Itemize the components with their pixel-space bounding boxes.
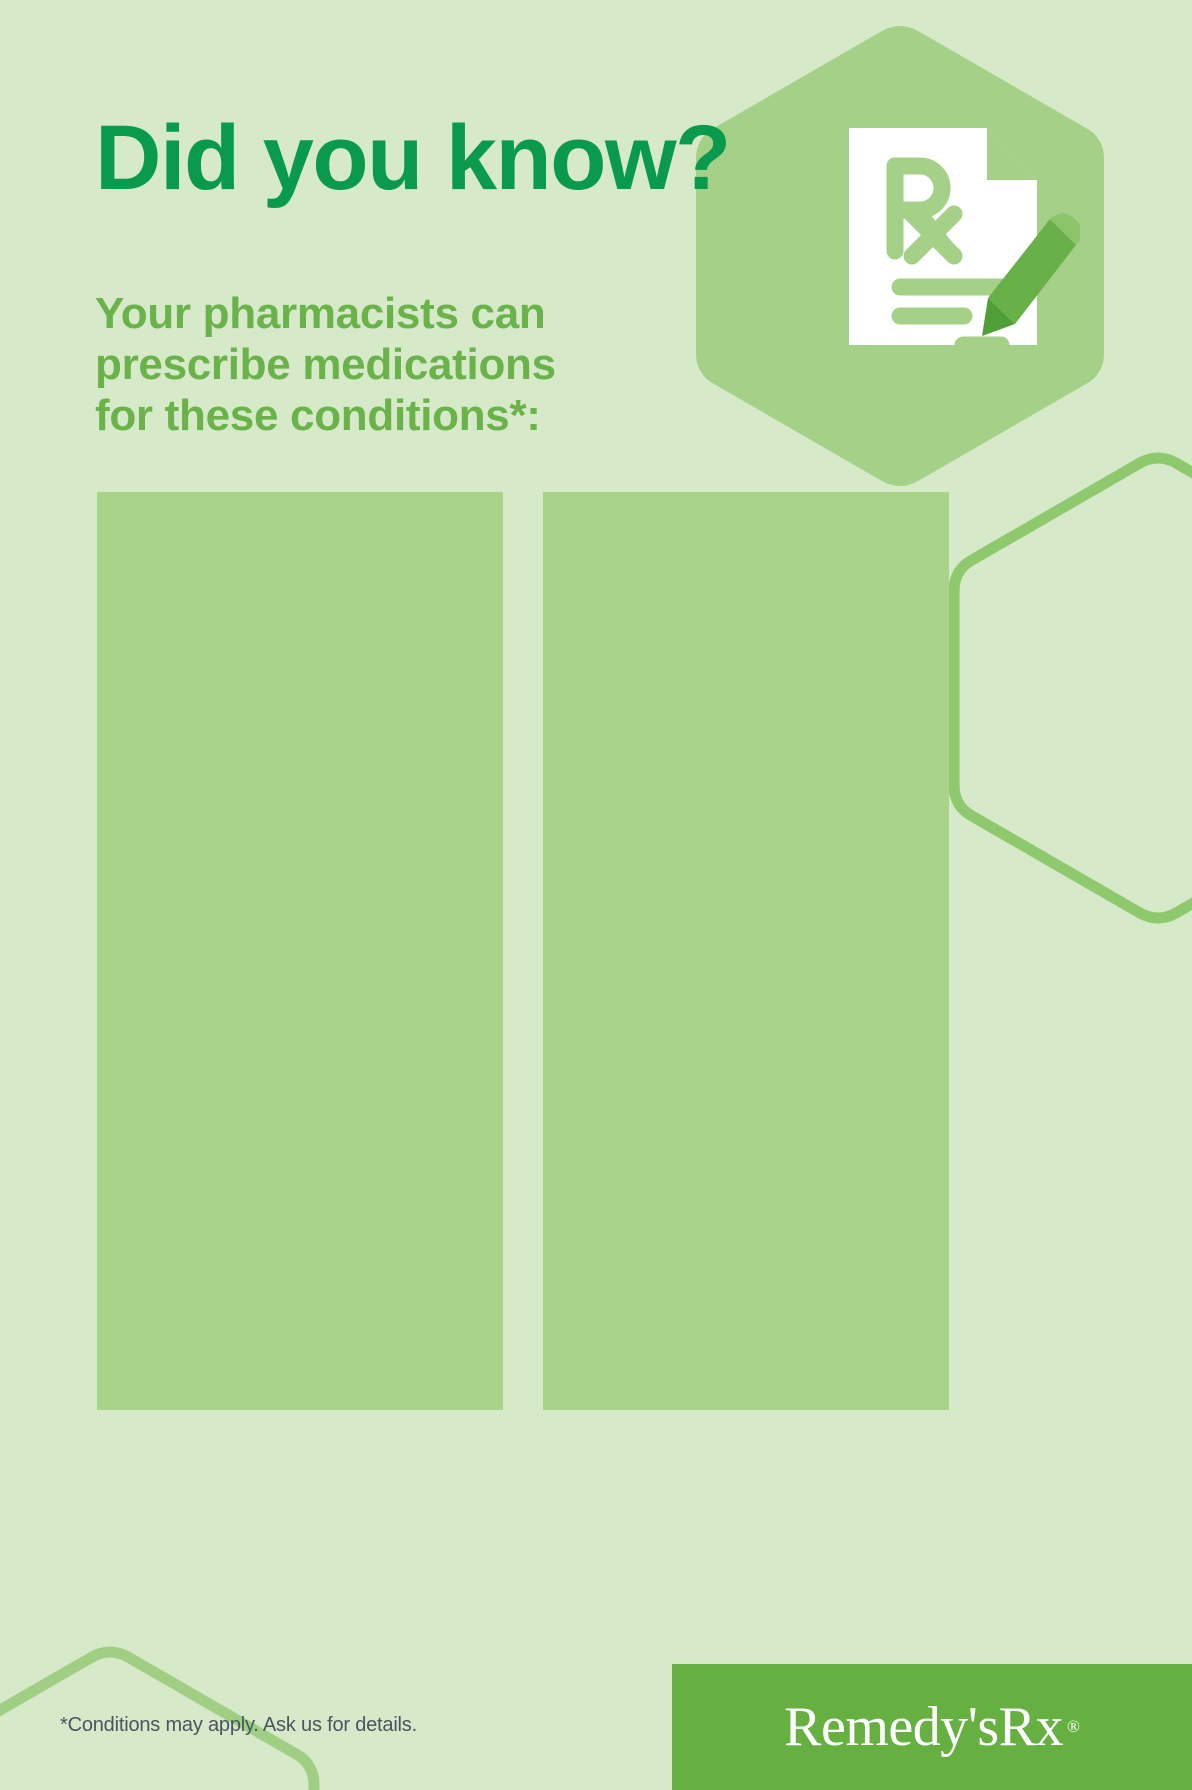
prescription-document-with-pencil-icon xyxy=(744,24,1080,434)
conditions-panel-left xyxy=(97,492,503,1410)
brand-logo: Remedy'sRx ® xyxy=(672,1664,1192,1790)
poster-canvas: Did you know? Your pharmacists can presc… xyxy=(0,0,1192,1790)
conditions-panel-left-body xyxy=(97,492,503,552)
page-subtitle-line-2: prescribe medications xyxy=(95,339,556,390)
page-subtitle: Your pharmacists can prescribe medicatio… xyxy=(95,288,556,441)
conditions-panel-right xyxy=(543,492,949,1410)
outlined-hexagon-right xyxy=(954,458,1192,918)
page-subtitle-line-1: Your pharmacists can xyxy=(95,288,556,339)
brand-logo-box: Remedy'sRx ® xyxy=(672,1664,1192,1790)
document-folded-corner-icon xyxy=(987,128,1037,180)
page-subtitle-line-3: for these conditions*: xyxy=(95,390,556,441)
conditions-panel-right-body xyxy=(543,492,949,552)
brand-logo-text: Remedy'sRx xyxy=(784,1695,1063,1759)
disclaimer-text: *Conditions may apply. Ask us for detail… xyxy=(60,1714,417,1737)
registered-trademark-icon: ® xyxy=(1067,1717,1080,1737)
page-title: Did you know? xyxy=(95,112,730,204)
